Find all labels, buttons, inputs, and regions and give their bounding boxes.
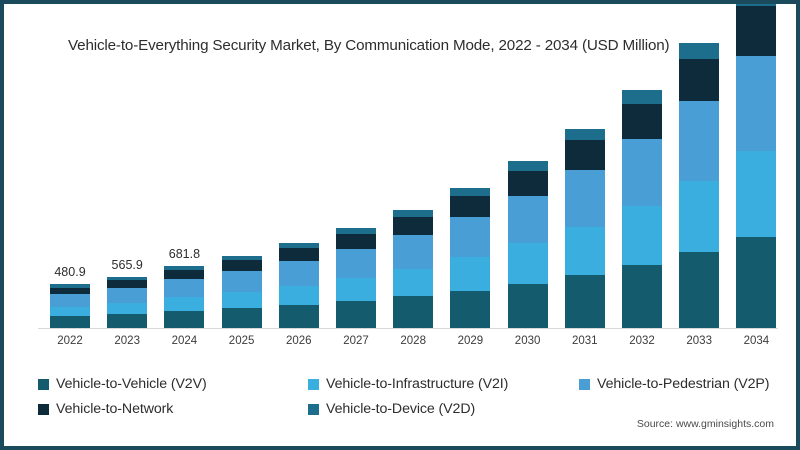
legend-label: Vehicle-to-Device (V2D) [326,401,475,417]
bar-stack [565,129,605,328]
bar-segment-v2p[interactable] [393,235,433,269]
bar-stack [336,228,376,328]
x-tick-2029: 2029 [450,335,490,347]
bar-segment-v2d[interactable] [622,90,662,103]
x-tick-2031: 2031 [565,335,605,347]
legend-item[interactable]: Vehicle-to-Device (V2D) [308,401,475,417]
legend-label: Vehicle-to-Infrastructure (V2I) [326,376,508,392]
bar-segment-v2n[interactable] [393,217,433,235]
bar-group-2034[interactable] [736,0,776,328]
x-tick-2034: 2034 [736,335,776,347]
chart-canvas: Vehicle-to-Everything Security Market, B… [8,8,792,442]
bar-segment-v2p[interactable] [622,139,662,206]
bar-segment-v2v[interactable] [164,311,204,328]
x-tick-2024: 2024 [164,335,204,347]
bar-stack [508,161,548,328]
bar-segment-v2i[interactable] [508,243,548,283]
x-tick-2032: 2032 [622,335,662,347]
x-tick-2022: 2022 [50,335,90,347]
bar-group-2032[interactable] [622,90,662,328]
bar-segment-v2p[interactable] [450,217,490,257]
legend-swatch-icon [38,404,49,415]
bar-segment-v2v[interactable] [565,275,605,328]
x-tick-2026: 2026 [279,335,319,347]
x-tick-2028: 2028 [393,335,433,347]
bar-segment-v2p[interactable] [50,294,90,307]
bar-segment-v2v[interactable] [622,265,662,328]
bar-stack [736,0,776,328]
bar-group-2023[interactable]: 565.9 [107,277,147,328]
bar-segment-v2i[interactable] [50,307,90,317]
bar-stack [50,284,90,328]
bar-segment-v2n[interactable] [450,196,490,217]
bar-segment-v2i[interactable] [107,303,147,314]
bar-segment-v2v[interactable] [679,252,719,328]
bar-group-2029[interactable] [450,188,490,328]
bar-segment-v2n[interactable] [164,270,204,280]
bar-segment-v2i[interactable] [450,257,490,290]
legend-label: Vehicle-to-Vehicle (V2V) [56,376,207,392]
bar-segment-v2v[interactable] [450,291,490,328]
bar-segment-v2p[interactable] [279,261,319,286]
bar-segment-v2p[interactable] [508,196,548,243]
bar-value-label-2023: 565.9 [112,258,143,272]
bar-segment-v2p[interactable] [107,288,147,303]
legend-swatch-icon [579,379,590,390]
legend-swatch-icon [38,379,49,390]
bar-group-2027[interactable] [336,228,376,328]
bar-group-2033[interactable] [679,43,719,328]
bar-segment-v2d[interactable] [393,210,433,217]
bar-segment-v2p[interactable] [164,279,204,297]
legend-item[interactable]: Vehicle-to-Vehicle (V2V) [38,376,207,392]
bar-segment-v2p[interactable] [679,101,719,181]
bar-segment-v2v[interactable] [393,296,433,328]
bar-stack [450,188,490,328]
bar-segment-v2v[interactable] [279,305,319,328]
bar-segment-v2v[interactable] [336,301,376,328]
bar-segment-v2v[interactable] [222,308,262,328]
bar-segment-v2n[interactable] [679,59,719,101]
bar-segment-v2n[interactable] [565,140,605,170]
bar-group-2025[interactable] [222,256,262,328]
legend-item[interactable]: Vehicle-to-Infrastructure (V2I) [308,376,508,392]
bar-segment-v2i[interactable] [336,278,376,301]
bar-segment-v2n[interactable] [736,6,776,56]
bar-segment-v2i[interactable] [164,297,204,311]
bar-segment-v2i[interactable] [393,269,433,297]
bar-segment-v2d[interactable] [450,188,490,196]
bar-segment-v2d[interactable] [679,43,719,59]
bar-segment-v2n[interactable] [107,280,147,288]
bar-value-label-2022: 480.9 [54,265,85,279]
bar-group-2031[interactable] [565,129,605,328]
bar-segment-v2i[interactable] [622,206,662,265]
bar-group-2024[interactable]: 681.8 [164,266,204,328]
bar-group-2030[interactable] [508,161,548,328]
chart-title: Vehicle-to-Everything Security Market, B… [68,37,669,54]
bar-group-2022[interactable]: 480.9 [50,284,90,328]
bar-segment-v2v[interactable] [736,237,776,328]
bar-segment-v2p[interactable] [336,249,376,278]
bar-value-label-2024: 681.8 [169,247,200,261]
bar-segment-v2v[interactable] [107,314,147,328]
bar-segment-v2n[interactable] [508,171,548,196]
x-tick-2027: 2027 [336,335,376,347]
legend-item[interactable]: Vehicle-to-Pedestrian (V2P) [579,376,769,392]
source-attribution: Source: www.gminsights.com [637,418,774,430]
legend-swatch-icon [308,404,319,415]
x-tick-2030: 2030 [508,335,548,347]
bar-stack [393,210,433,328]
bar-segment-v2v[interactable] [508,284,548,328]
bar-segment-v2p[interactable] [736,56,776,151]
bar-segment-v2p[interactable] [222,271,262,292]
bar-stack [679,43,719,328]
x-axis-baseline [38,328,778,329]
legend-label: Vehicle-to-Pedestrian (V2P) [597,376,769,392]
x-axis-tick-labels: 2022202320242025202620272028202920302031… [38,335,778,355]
bar-group-2026[interactable] [279,243,319,328]
bar-segment-v2d[interactable] [565,129,605,140]
legend-swatch-icon [308,379,319,390]
bar-segment-v2n[interactable] [622,104,662,139]
bar-group-2028[interactable] [393,210,433,328]
bar-segment-v2i[interactable] [679,181,719,252]
bar-stack [279,243,319,328]
bar-segment-v2i[interactable] [279,286,319,305]
bar-segment-v2n[interactable] [336,234,376,249]
bar-stack [107,277,147,328]
plot-area: 480.9565.9681.8 [38,88,778,329]
bar-segment-v2d[interactable] [508,161,548,171]
bar-stack [622,90,662,328]
bar-stack [222,256,262,328]
x-tick-2023: 2023 [107,335,147,347]
bar-segment-v2n[interactable] [279,248,319,261]
bar-stack [164,266,204,328]
bar-segment-v2p[interactable] [565,170,605,226]
bar-segment-v2v[interactable] [50,316,90,328]
bar-segment-v2n[interactable] [222,260,262,271]
x-tick-2033: 2033 [679,335,719,347]
x-tick-2025: 2025 [222,335,262,347]
legend-label: Vehicle-to-Network [56,401,173,417]
bar-segment-v2i[interactable] [736,151,776,237]
bar-segment-v2i[interactable] [565,227,605,275]
chart-screenshot: Vehicle-to-Everything Security Market, B… [0,0,800,450]
bar-segment-v2i[interactable] [222,292,262,308]
legend-item[interactable]: Vehicle-to-Network [38,401,173,417]
